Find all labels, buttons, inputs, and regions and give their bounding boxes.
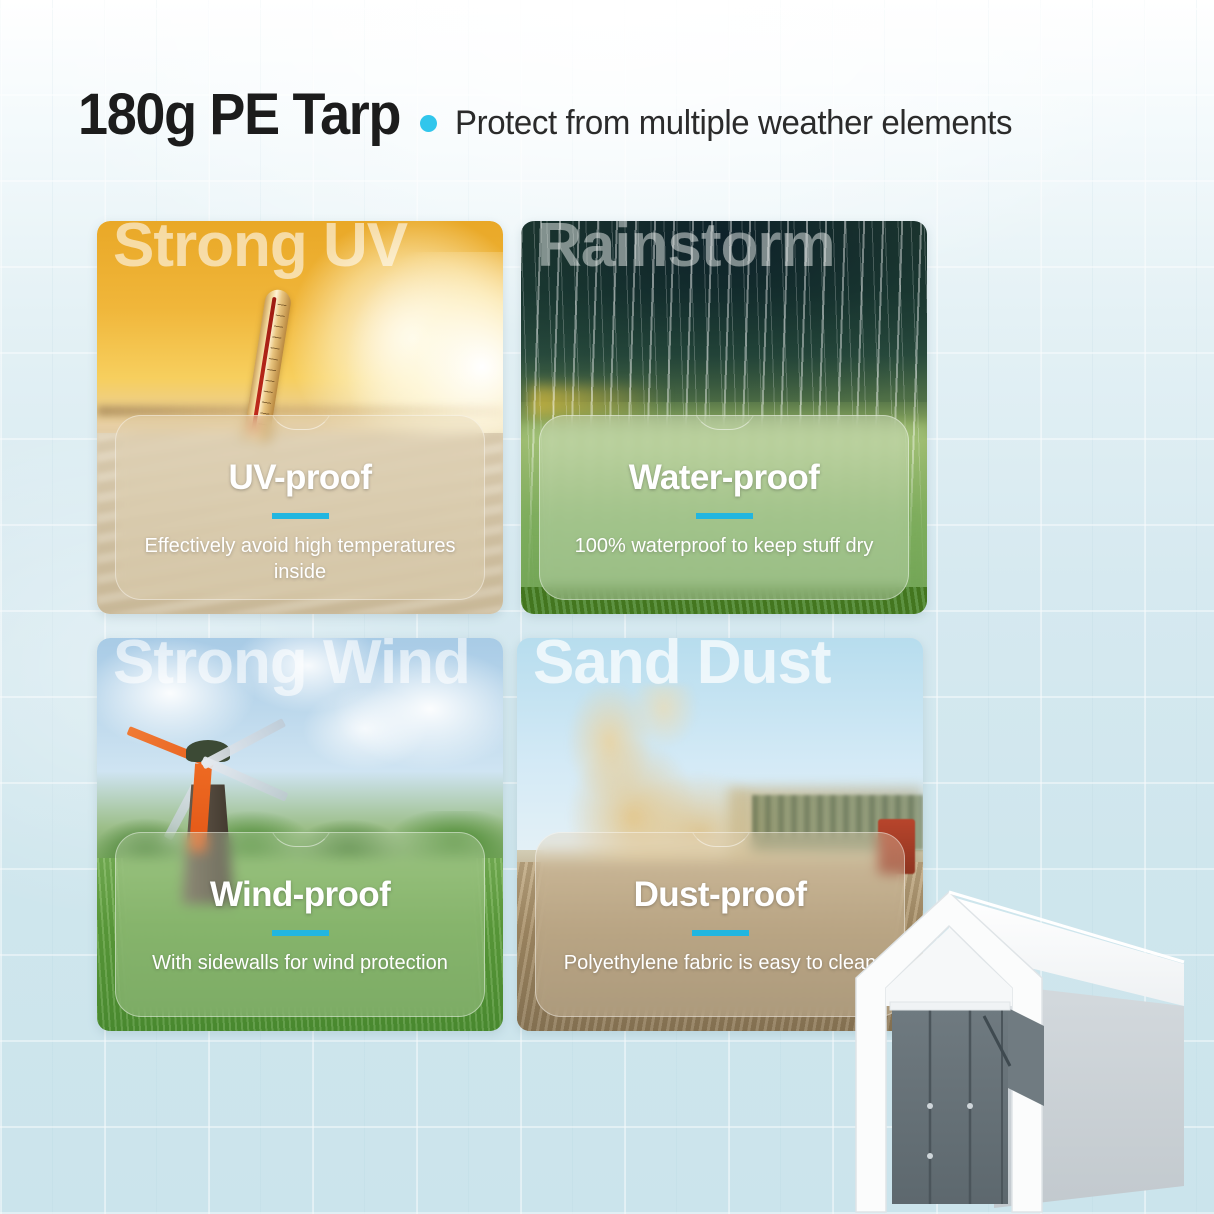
feature-card-wind-proof: Strong Wind Wind-proof With sidewalls fo… bbox=[97, 638, 503, 1031]
cyan-dot-icon bbox=[420, 115, 437, 132]
card-label-panel: UV-proof Effectively avoid high temperat… bbox=[115, 415, 485, 600]
pole-connector bbox=[927, 1103, 933, 1109]
accent-divider bbox=[692, 930, 749, 936]
feature-card-uv-proof: Strong UV UV-proof Effectively avoid hig… bbox=[97, 221, 503, 614]
door-curtain bbox=[892, 1008, 1008, 1204]
accent-divider bbox=[272, 513, 329, 519]
feature-card-water-proof: Rainstorm Water-proof 100% waterproof to… bbox=[521, 221, 927, 614]
card-title: Wind-proof bbox=[210, 877, 390, 912]
pole-connector bbox=[927, 1153, 933, 1159]
card-subtitle: Effectively avoid high temperatures insi… bbox=[127, 533, 473, 585]
header-beam bbox=[890, 1002, 1010, 1010]
accent-divider bbox=[696, 513, 753, 519]
card-title: UV-proof bbox=[229, 460, 372, 495]
pole-connector bbox=[967, 1103, 973, 1109]
card-label-panel: Wind-proof With sidewalls for wind prote… bbox=[115, 832, 485, 1017]
card-subtitle: With sidewalls for wind protection bbox=[152, 950, 448, 976]
page-title: 180g PE Tarp bbox=[78, 86, 400, 144]
card-subtitle: 100% waterproof to keep stuff dry bbox=[575, 533, 874, 559]
card-label-panel: Water-proof 100% waterproof to keep stuf… bbox=[539, 415, 909, 600]
product-carport-image bbox=[744, 856, 1214, 1214]
accent-divider bbox=[272, 930, 329, 936]
page-subtitle: Protect from multiple weather elements bbox=[455, 106, 1012, 140]
card-title: Water-proof bbox=[629, 460, 819, 495]
page-header: 180g PE Tarp Protect from multiple weath… bbox=[78, 86, 1158, 152]
